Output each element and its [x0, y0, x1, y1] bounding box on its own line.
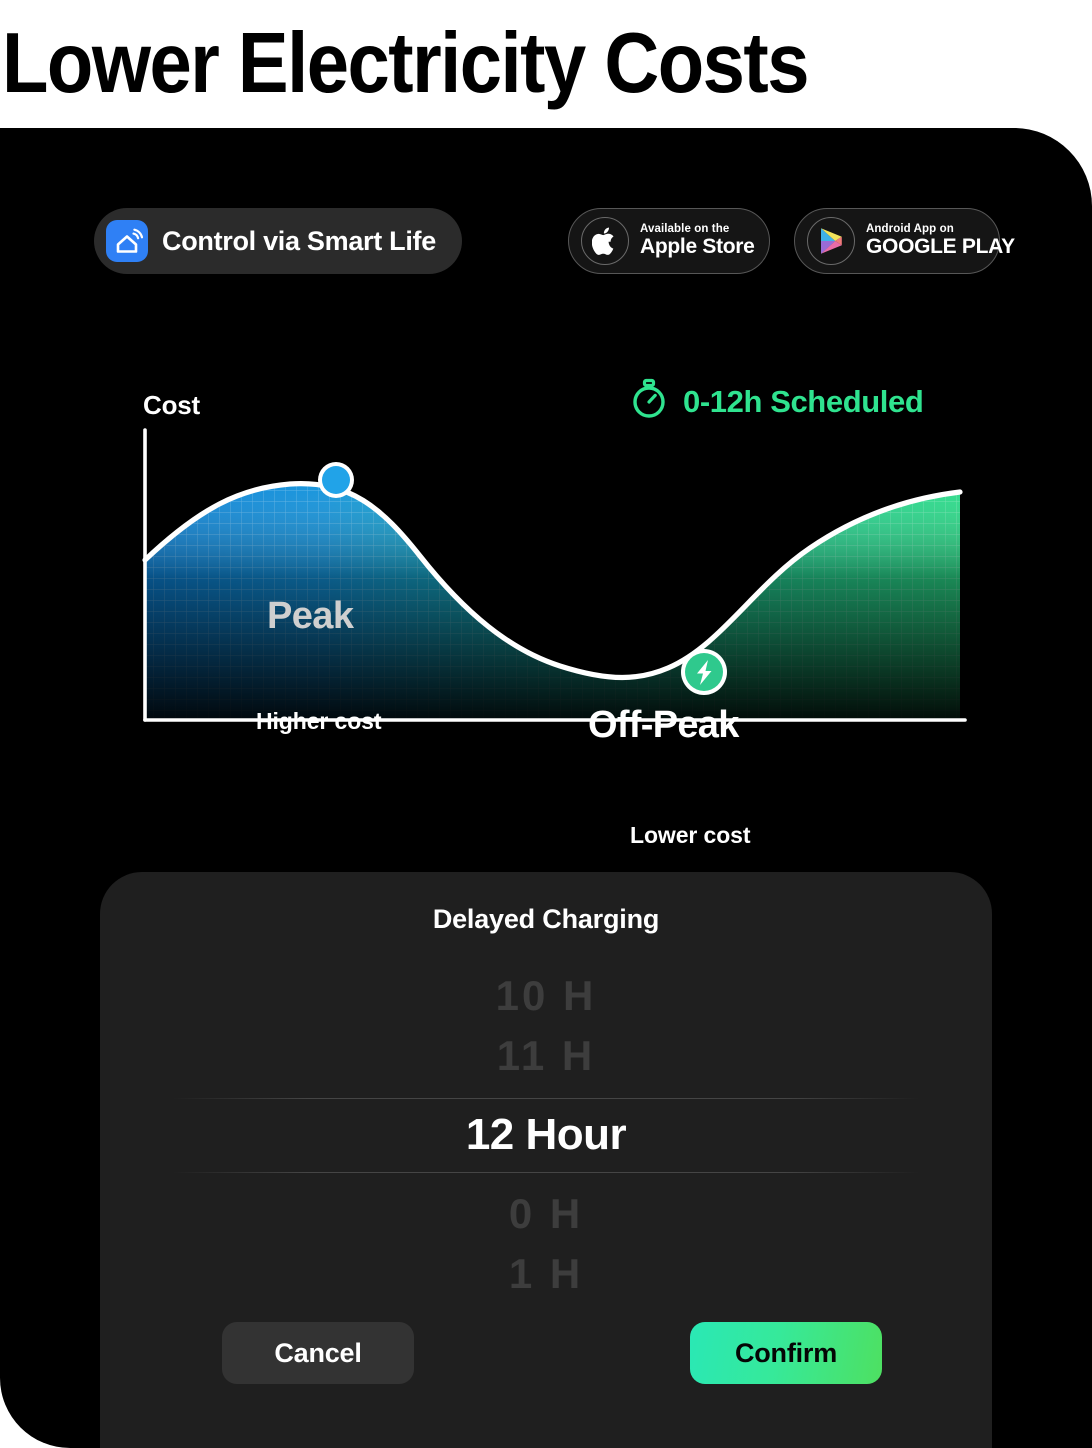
smart-home-wifi-icon [106, 220, 148, 262]
peak-label: Peak [267, 595, 353, 638]
badge-row: Control via Smart Life Available on the … [94, 208, 1004, 274]
dialog-title: Delayed Charging [100, 904, 992, 935]
smart-life-label: Control via Smart Life [162, 226, 436, 257]
lower-cost-label: Lower cost [630, 822, 750, 849]
google-play-line2: GOOGLE PLAY [866, 236, 1015, 258]
picker-divider-top [172, 1098, 920, 1099]
page-headline: Lower Electricity Costs [0, 0, 1092, 128]
delayed-charging-dialog: Delayed Charging 10 H 11 H 12 Hour 0 H 1… [100, 872, 992, 1448]
picker-option-4[interactable]: 1 H [100, 1250, 992, 1298]
google-play-icon [807, 217, 855, 265]
blue-dot-marker[interactable] [318, 462, 354, 498]
off-peak-label: Off-Peak [588, 704, 739, 747]
picker-selected-option[interactable]: 12 Hour [100, 1110, 992, 1160]
higher-cost-label: Higher cost [256, 708, 381, 735]
lightning-bolt-icon[interactable] [681, 649, 727, 695]
apple-store-badge[interactable]: Available on the Apple Store [568, 208, 770, 274]
cost-chart: Cost 0-12h Scheduled [0, 340, 1092, 800]
picker-option-3[interactable]: 0 H [100, 1190, 992, 1238]
picker-option-0[interactable]: 10 H [100, 972, 992, 1020]
cancel-button[interactable]: Cancel [222, 1322, 414, 1384]
control-via-smart-life-badge[interactable]: Control via Smart Life [94, 208, 462, 274]
apple-store-text: Available on the Apple Store [640, 223, 755, 258]
google-play-text: Android App on GOOGLE PLAY [866, 223, 1015, 258]
apple-store-line2: Apple Store [640, 236, 755, 258]
picker-option-1[interactable]: 11 H [100, 1032, 992, 1080]
picker-divider-bottom [172, 1172, 920, 1173]
apple-store-line1: Available on the [640, 223, 755, 235]
chart-plot [120, 380, 1000, 780]
headline-text: Lower Electricity Costs [0, 21, 808, 106]
google-play-badge[interactable]: Android App on GOOGLE PLAY [794, 208, 1000, 274]
google-play-line1: Android App on [866, 223, 1015, 235]
confirm-button[interactable]: Confirm [690, 1322, 882, 1384]
apple-logo-icon [581, 217, 629, 265]
